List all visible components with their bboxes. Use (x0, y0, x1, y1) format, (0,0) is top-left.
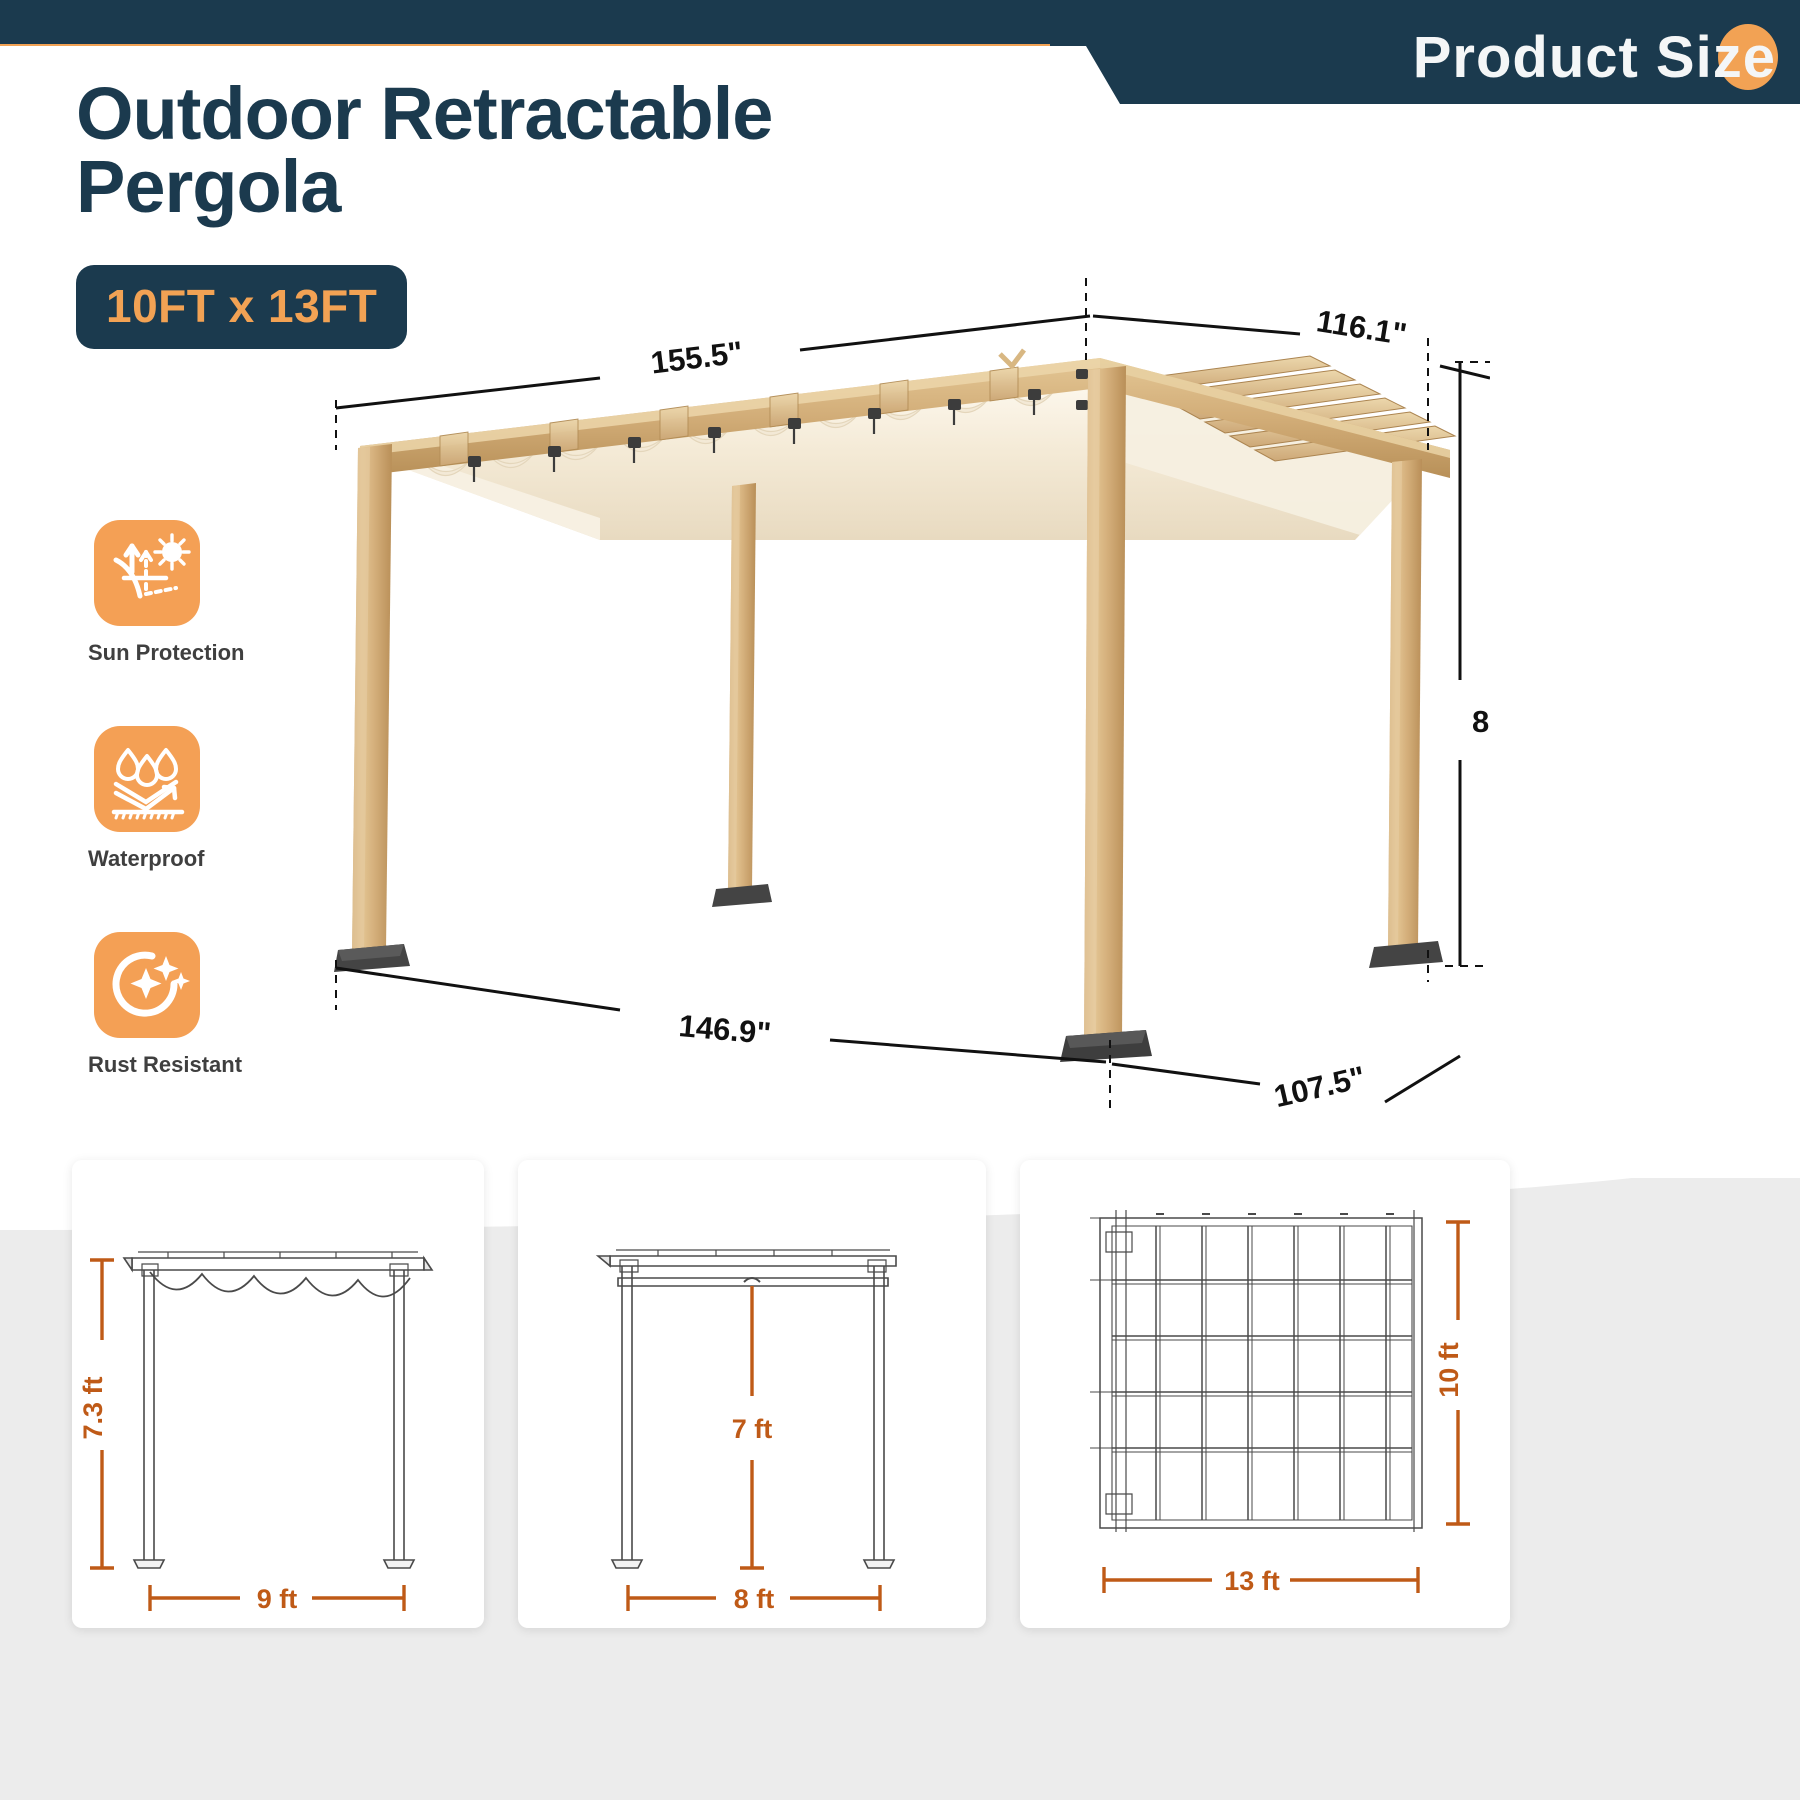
post-rear-left (712, 483, 772, 907)
detail-card-top-plan: 10 ft 13 ft (1020, 1160, 1510, 1628)
card3-height-label: 10 ft (1434, 1342, 1464, 1398)
feature-rust-resistant: Rust Resistant (88, 932, 318, 1078)
detail-card-front-elevation: 7.3 ft 9 ft (72, 1160, 484, 1628)
dimension-post-height: 87.4" (1472, 704, 1490, 739)
feature-list: Sun Protection Waterpro (88, 520, 318, 1138)
card1-width-label: 9 ft (257, 1584, 298, 1614)
waterproof-icon (94, 726, 200, 832)
feature-label: Sun Protection (88, 640, 318, 666)
post-front-left (334, 444, 410, 972)
rust-resistant-icon (94, 932, 200, 1038)
dimension-base-front-width: 146.9" (677, 1008, 772, 1051)
feature-label: Rust Resistant (88, 1052, 318, 1078)
card3-width-label: 13 ft (1224, 1566, 1280, 1596)
card2-height-label: 7 ft (732, 1414, 773, 1444)
detail-card-side-elevation: 7 ft 8 ft (518, 1160, 986, 1628)
feature-waterproof: Waterproof (88, 726, 318, 872)
dimension-top-front-width: 155.5" (649, 335, 745, 381)
page-title-line2: Pergola (76, 151, 976, 224)
page-title-line1: Outdoor Retractable (76, 72, 772, 155)
card2-width-label: 8 ft (734, 1584, 775, 1614)
dimension-base-side-depth: 107.5" (1271, 1059, 1369, 1114)
feature-label: Waterproof (88, 846, 318, 872)
card1-height-label: 7.3 ft (78, 1376, 108, 1439)
dimension-top-side-depth: 116.1" (1314, 303, 1409, 352)
sun-protection-icon (94, 520, 200, 626)
header-tab-title: Product Size (1413, 24, 1776, 91)
main-product-diagram: 155.5" 116.1" 87.4" 146.9" 107.5" (300, 250, 1490, 1150)
post-rear-right (1369, 459, 1443, 968)
feature-sun-protection: Sun Protection (88, 520, 318, 666)
page-title: Outdoor Retractable Pergola (76, 78, 976, 223)
